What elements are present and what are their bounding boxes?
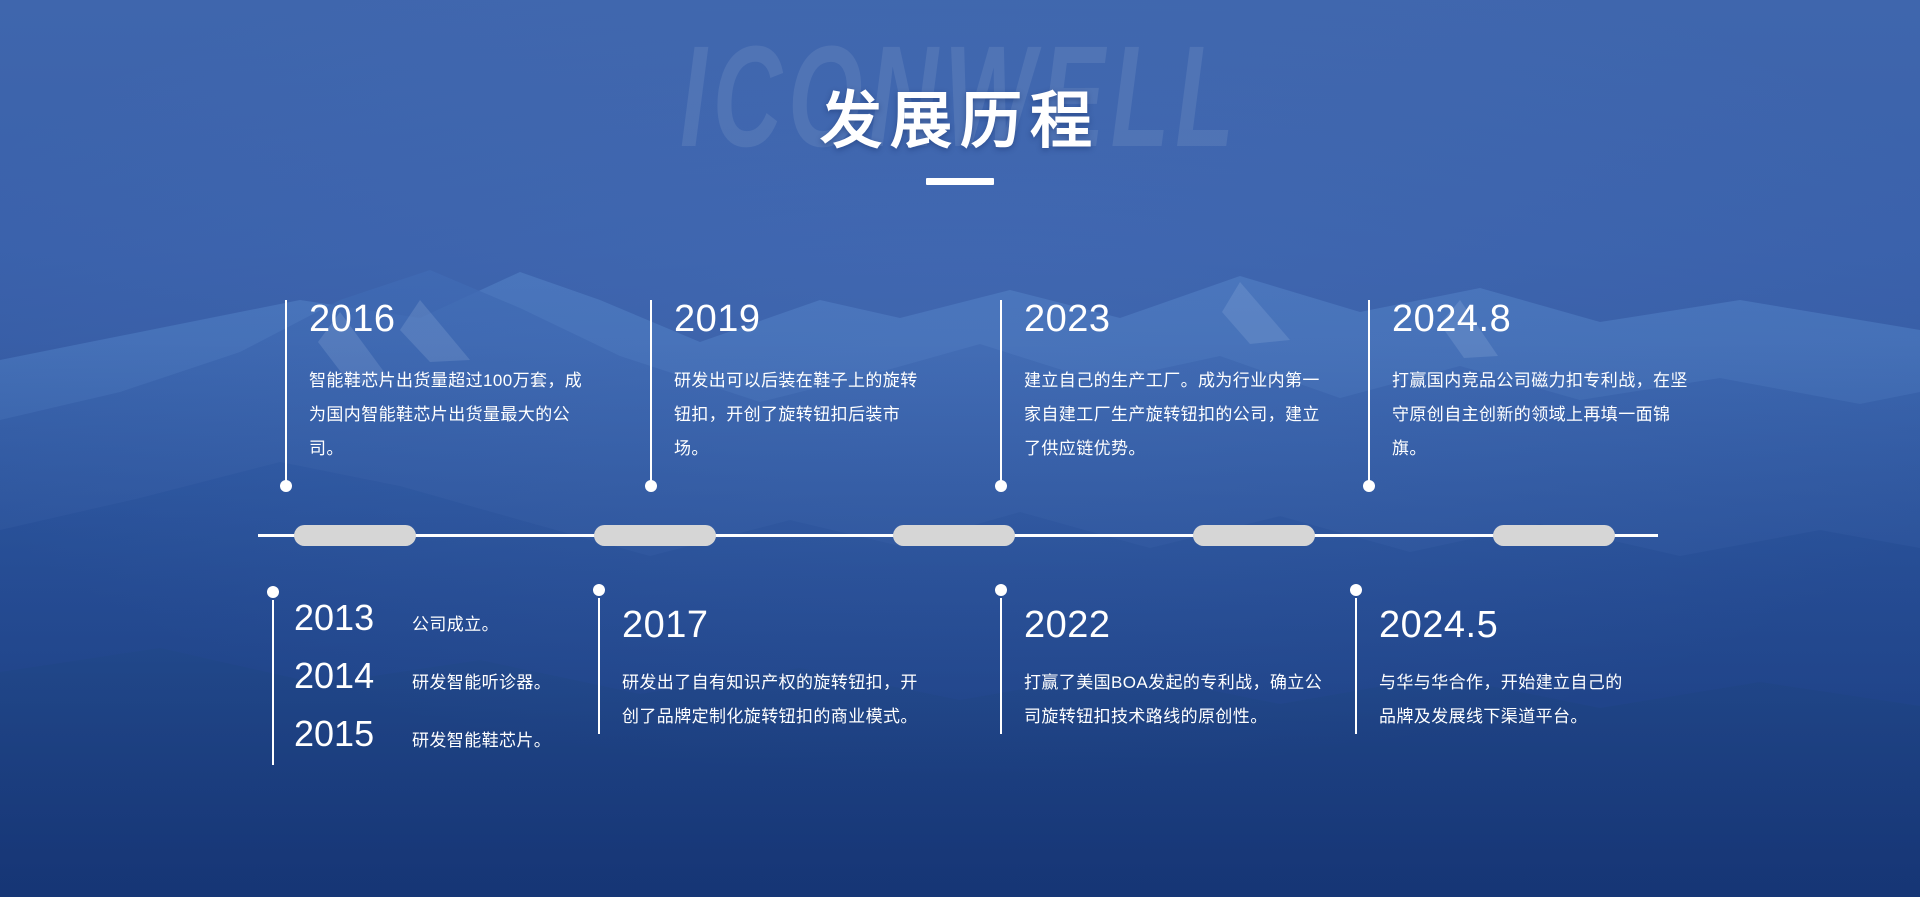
timeline-stem: [1000, 426, 1002, 488]
timeline-year: 2023: [1024, 300, 1320, 338]
timeline-stem: [272, 600, 274, 765]
list-item: 2015 研发智能鞋芯片。: [294, 716, 602, 752]
timeline-item-2017[interactable]: 2017 研发出了自有知识产权的旋转钮扣，开创了品牌定制化旋转钮扣的商业模式。: [598, 598, 928, 734]
title-underline: [926, 178, 994, 185]
list-item: 2014 研发智能听诊器。: [294, 658, 602, 694]
timeline-item-2024-8[interactable]: 2024.8 打赢国内竞品公司磁力扣专利战，在坚守原创自主创新的领域上再填一面锦…: [1368, 300, 1688, 466]
page-title-block: 发展历程: [0, 88, 1920, 185]
timeline-year: 2024.8: [1392, 300, 1688, 338]
timeline-item-2016[interactable]: 2016 智能鞋芯片出货量超过100万套，成为国内智能鞋芯片出货量最大的公司。: [285, 300, 575, 466]
timeline-description: 研发出可以后装在鞋子上的旋转钮扣，开创了旋转钮扣后装市场。: [674, 364, 924, 466]
timeline-description: 智能鞋芯片出货量超过100万套，成为国内智能鞋芯片出货量最大的公司。: [309, 364, 584, 466]
timeline-dot-icon: [593, 584, 605, 596]
timeline-description: 与华与华合作，开始建立自己的品牌及发展线下渠道平台。: [1379, 666, 1634, 734]
timeline-dot-icon: [267, 586, 279, 598]
timeline-axis: [258, 534, 1658, 537]
timeline-item-2023[interactable]: 2023 建立自己的生产工厂。成为行业内第一家自建工厂生产旋转钮扣的公司，建立了…: [1000, 300, 1320, 466]
timeline-item-2024-5[interactable]: 2024.5 与华与华合作，开始建立自己的品牌及发展线下渠道平台。: [1355, 598, 1655, 734]
timeline-description: 打赢了美国BOA发起的专利战，确立公司旋转钮扣技术路线的原创性。: [1024, 666, 1324, 734]
timeline-year: 2019: [674, 300, 925, 338]
timeline-year: 2022: [1024, 606, 1330, 644]
timeline-description: 建立自己的生产工厂。成为行业内第一家自建工厂生产旋转钮扣的公司，建立了供应链优势…: [1024, 364, 1324, 466]
timeline-year: 2015: [294, 716, 412, 752]
timeline-description: 研发智能鞋芯片。: [412, 732, 551, 749]
timeline-pill: [893, 525, 1015, 546]
timeline-pill: [1193, 525, 1315, 546]
timeline-item-2019[interactable]: 2019 研发出可以后装在鞋子上的旋转钮扣，开创了旋转钮扣后装市场。: [650, 300, 925, 466]
timeline-year: 2013: [294, 600, 412, 636]
timeline-pill: [594, 525, 716, 546]
timeline-year: 2024.5: [1379, 606, 1655, 644]
timeline-dot-icon: [1350, 584, 1362, 596]
timeline-item-2022[interactable]: 2022 打赢了美国BOA发起的专利战，确立公司旋转钮扣技术路线的原创性。: [1000, 598, 1330, 734]
timeline-stem: [650, 426, 652, 488]
timeline-description: 研发出了自有知识产权的旋转钮扣，开创了品牌定制化旋转钮扣的商业模式。: [622, 666, 922, 734]
page-title: 发展历程: [0, 88, 1920, 156]
timeline-item-group-2013-2015[interactable]: 2013 公司成立。 2014 研发智能听诊器。 2015 研发智能鞋芯片。: [272, 600, 602, 765]
timeline-stem: [1368, 426, 1370, 488]
timeline-description: 研发智能听诊器。: [412, 674, 551, 691]
timeline-year: 2017: [622, 606, 928, 644]
list-item: 2013 公司成立。: [294, 600, 602, 636]
timeline-description: 打赢国内竞品公司磁力扣专利战，在坚守原创自主创新的领域上再填一面锦旗。: [1392, 364, 1692, 466]
timeline-stem: [285, 426, 287, 488]
timeline-pill: [1493, 525, 1615, 546]
timeline-year: 2014: [294, 658, 412, 694]
timeline-pill: [294, 525, 416, 546]
timeline-year: 2016: [309, 300, 575, 338]
timeline-description: 公司成立。: [412, 616, 499, 633]
timeline-dot-icon: [995, 584, 1007, 596]
